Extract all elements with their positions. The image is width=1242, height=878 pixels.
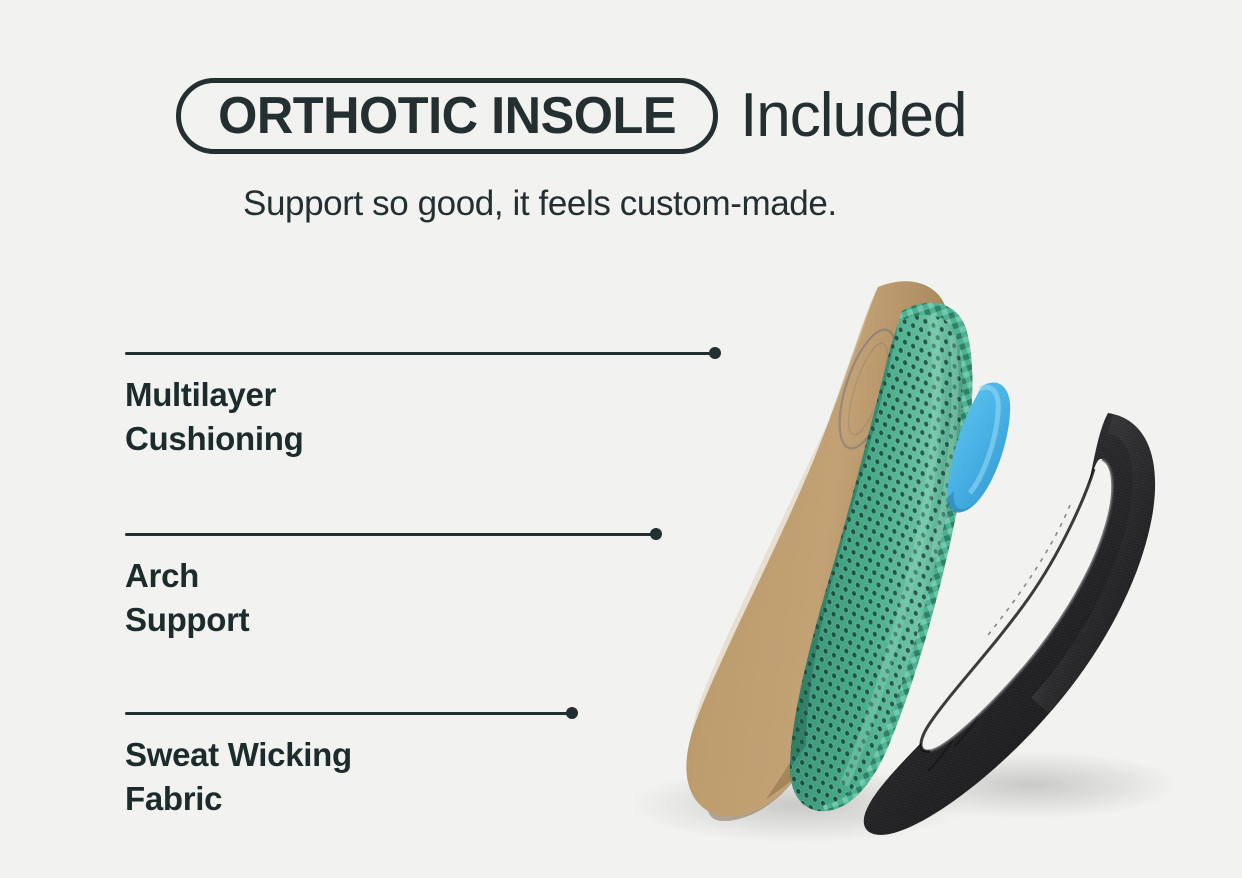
subtitle: Support so good, it feels custom-made. xyxy=(243,184,837,224)
headline: ORTHOTIC INSOLE Included xyxy=(176,78,966,154)
leader-line xyxy=(125,528,249,540)
feature-label: Multilayer Cushioning xyxy=(125,373,303,461)
product-image-insole-layers xyxy=(600,265,1200,845)
leader-rule xyxy=(125,533,656,536)
orthotic-insole-badge: ORTHOTIC INSOLE xyxy=(176,78,718,154)
feature-callout-multilayer-cushioning: Multilayer Cushioning xyxy=(125,347,303,461)
infographic-page: ORTHOTIC INSOLE Included Support so good… xyxy=(0,0,1242,878)
leader-line xyxy=(125,347,303,359)
feature-label: Arch Support xyxy=(125,554,249,642)
feature-callout-arch-support: Arch Support xyxy=(125,528,249,642)
feature-callout-sweat-wicking-fabric: Sweat Wicking Fabric xyxy=(125,707,352,821)
leader-rule xyxy=(125,712,572,715)
leader-line xyxy=(125,707,352,719)
leader-dot xyxy=(566,707,578,719)
headline-suffix: Included xyxy=(740,85,966,147)
feature-label: Sweat Wicking Fabric xyxy=(125,733,352,821)
badge-label: ORTHOTIC INSOLE xyxy=(218,90,676,142)
